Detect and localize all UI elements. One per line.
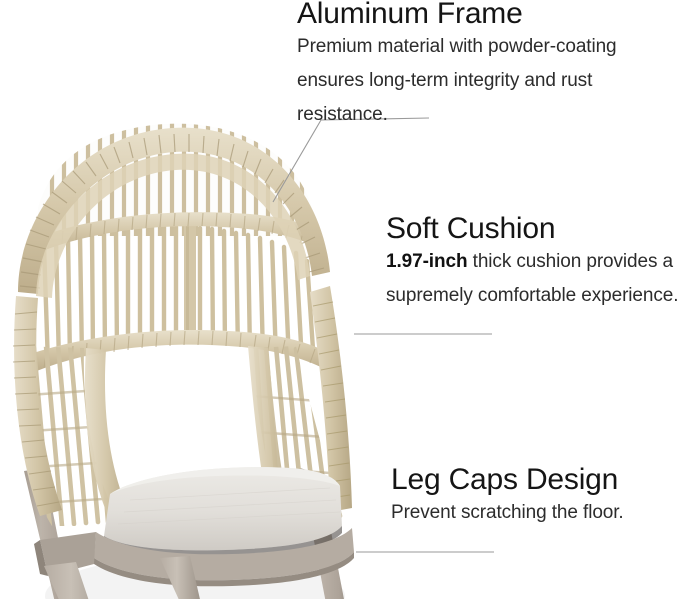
callout-title-aluminum-frame: Aluminum Frame [297,0,679,30]
callout-title-leg-caps-design: Leg Caps Design [391,464,624,496]
callout-body-line-2: supremely comfortable experience. [386,279,678,313]
cushion-thickness-value: 1.97-inch [386,251,467,272]
callout-body-leg-caps-design: Prevent scratching the floor. [391,496,624,530]
callout-body-soft-cushion: 1.97-inch thick cushion provides a supre… [386,245,678,313]
callout-body-line-1: Premium material with powder-coating [297,30,679,64]
leader-line-soft-cushion [352,326,494,340]
cushion-line-1-rest: thick cushion provides a [467,251,673,272]
callout-body-line-1: 1.97-inch thick cushion provides a [386,245,678,279]
callout-body-line-1: Prevent scratching the floor. [391,496,624,530]
callout-body-aluminum-frame: Premium material with powder-coating ens… [297,30,679,131]
callout-aluminum-frame: Aluminum Frame Premium material with pow… [297,0,679,132]
callout-soft-cushion: Soft Cushion 1.97-inch thick cushion pro… [386,213,678,313]
callout-title-soft-cushion: Soft Cushion [386,213,678,245]
leader-line-leg-caps [354,544,496,558]
seat-cushion [104,467,342,557]
product-infographic: Aluminum Frame Premium material with pow… [0,0,679,599]
callout-leg-caps-design: Leg Caps Design Prevent scratching the f… [391,464,624,530]
callout-body-line-2: ensures long-term integrity and rust res… [297,64,679,132]
